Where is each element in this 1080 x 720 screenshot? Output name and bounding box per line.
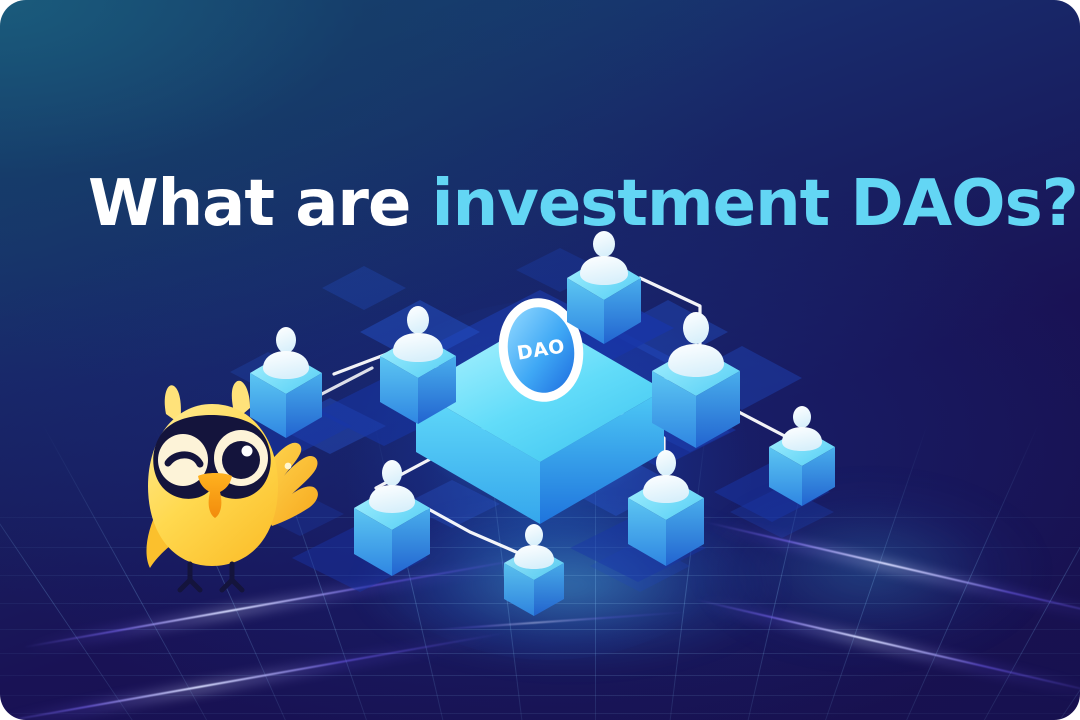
dao-coin-wrapper: DAO xyxy=(499,298,583,402)
owl-mascot xyxy=(128,368,328,598)
node-far-right[interactable] xyxy=(769,406,835,506)
node-bottom[interactable] xyxy=(504,524,564,616)
hero-banner: DAO xyxy=(0,0,1080,720)
node-lower-left[interactable] xyxy=(354,460,430,576)
title-part-white: What are xyxy=(88,167,432,241)
person-icon xyxy=(782,406,822,451)
person-icon xyxy=(514,524,554,569)
page-title: What are investment DAOs? xyxy=(88,171,1078,238)
dao-label: DAO xyxy=(491,292,590,408)
title-part-cyan: investment DAOs? xyxy=(432,167,1078,241)
owl-pupil-right xyxy=(222,441,260,479)
owl-eye-highlight xyxy=(242,446,253,457)
owl-feet xyxy=(180,564,242,590)
